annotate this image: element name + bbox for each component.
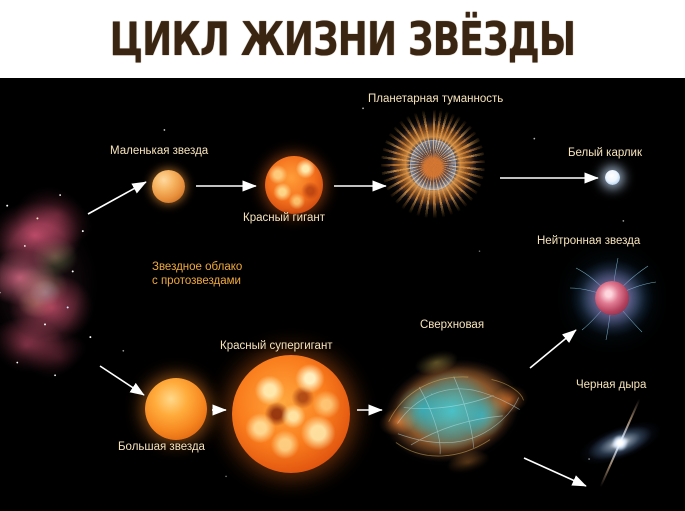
label-big-star: Большая звезда: [118, 440, 205, 454]
infographic-page: ЦИКЛ ЖИЗНИ ЗВЁЗДЫ: [0, 0, 685, 511]
white-dwarf-object: [605, 170, 620, 185]
black-hole-core: [613, 436, 627, 450]
label-white-dwarf: Белый карлик: [568, 146, 642, 160]
label-red-giant: Красный гигант: [243, 211, 325, 225]
page-title: ЦИКЛ ЖИЗНИ ЗВЁЗДЫ: [110, 12, 576, 66]
label-star-cloud-line2: с протозвездами: [152, 274, 241, 288]
label-supernova: Сверхновая: [420, 318, 484, 332]
planetary-nebula-core: [410, 140, 456, 190]
neutron-star-object: [560, 250, 664, 346]
small-star-object: [152, 170, 185, 203]
star-forming-nebula-stars: [0, 176, 108, 388]
black-hole-object: [564, 400, 676, 486]
title-band: ЦИКЛ ЖИЗНИ ЗВЁЗДЫ: [0, 0, 685, 78]
red-giant-object: [265, 156, 323, 214]
label-star-cloud-line1: Звездное облако: [152, 260, 242, 274]
label-small-star: Маленькая звезда: [110, 144, 208, 158]
big-star-object: [145, 378, 207, 440]
planetary-nebula-object: [381, 109, 485, 219]
supernova-filaments: [351, 321, 552, 500]
label-planetary-nebula: Планетарная туманность: [368, 92, 503, 106]
red-supergiant-object: [232, 355, 350, 473]
space-panel: Маленькая звезда Красный гигант Планетар…: [0, 78, 685, 511]
label-black-hole: Черная дыра: [576, 378, 646, 392]
label-neutron-star: Нейтронная звезда: [537, 234, 640, 248]
label-red-supergiant: Красный супергигант: [220, 339, 333, 353]
neutron-star-core: [595, 281, 629, 315]
